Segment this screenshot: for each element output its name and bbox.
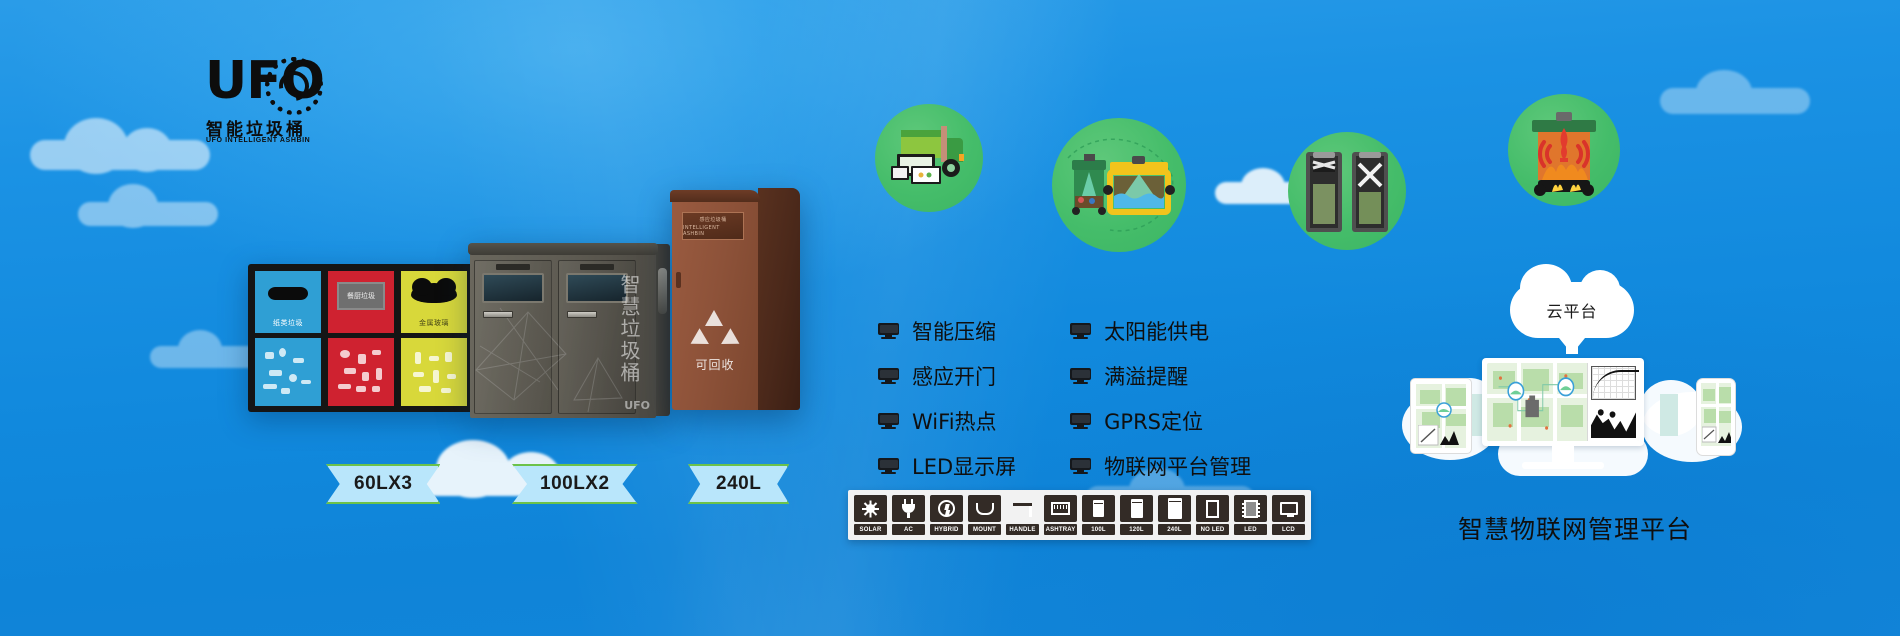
feature-label: 感应开门 — [912, 361, 996, 391]
spec-label: HANDLE — [1006, 524, 1039, 535]
cloud-platform-label: 云平台 — [1510, 282, 1634, 338]
spec-item-mount[interactable]: MOUNT — [968, 495, 1001, 535]
monitor-icon — [1070, 368, 1091, 384]
bin-cap-icon — [496, 264, 530, 270]
litter-graphic — [328, 338, 394, 406]
mount-icon — [968, 495, 1001, 522]
spec-item-120l[interactable]: 120L — [1120, 495, 1153, 535]
spec-label: LED — [1234, 524, 1267, 535]
feature-item: 满溢提醒 — [1070, 361, 1251, 391]
monitor-icon — [878, 458, 899, 474]
bin-panel-display: 餐厨垃圾 — [337, 282, 385, 310]
platform-caption: 智慧物联网管理平台 — [1380, 510, 1770, 546]
slot-cloud-icon — [411, 283, 457, 303]
litter-graphic — [255, 338, 321, 406]
bin-window-left — [482, 273, 544, 303]
feature-column-1: 智能压缩 感应开门 WiFi热点 LED显示屏 — [878, 316, 1016, 481]
feature-item: 感应开门 — [878, 361, 1016, 391]
dashboard-map — [1487, 363, 1587, 441]
capacity-label: 240L — [716, 473, 761, 495]
handle-icon — [1006, 495, 1039, 522]
spec-item-lcd[interactable]: LCD — [1272, 495, 1305, 535]
lcd-icon — [1272, 495, 1305, 522]
bin-double-body: 智慧垃圾桶 UFO — [470, 250, 656, 418]
green-bin-sensor-icon — [1072, 154, 1106, 215]
spec-item-solar[interactable]: SOLAR — [854, 495, 887, 535]
bin-brown-face: 感应垃圾桶 INTELLIGENT ASHBIN — [672, 198, 758, 410]
download-arrow-icon — [1559, 338, 1585, 354]
green-circle-fill-level-sensor — [1052, 118, 1186, 252]
bin-cell-label: 金属玻璃 — [401, 318, 467, 328]
dashboard-devices-icon — [891, 154, 941, 184]
bin-icon — [1158, 495, 1191, 522]
spec-item-led[interactable]: LED — [1234, 495, 1267, 535]
spec-label: 100L — [1082, 524, 1115, 535]
feature-label: 智能压缩 — [912, 316, 996, 346]
dashboard-charts — [1587, 363, 1639, 441]
promotional-banner: UFO 智能垃圾桶 UFO INTELLIGENT ASHBIN 纸类垃圾 — [0, 0, 1900, 636]
spec-item-240l[interactable]: 240L — [1158, 495, 1191, 535]
feature-item: 物联网平台管理 — [1070, 451, 1251, 481]
spec-label: SOLAR — [854, 524, 887, 535]
monitor-icon — [878, 368, 899, 384]
spec-item-hybrid[interactable]: HYBRID — [930, 495, 963, 535]
green-circle-smart-collection — [875, 104, 983, 212]
slot-oval-icon — [268, 287, 308, 300]
monitor-base — [1522, 462, 1604, 469]
logo-english-name: UFO INTELLIGENT ASHBIN — [206, 137, 310, 144]
feature-item: WiFi热点 — [878, 406, 1016, 436]
spec-label: 240L — [1158, 524, 1191, 535]
bin-cap-icon — [580, 264, 614, 270]
bin-double-top — [468, 243, 658, 255]
bin-brown-side — [758, 188, 800, 410]
nameplate-english: INTELLIGENT ASHBIN — [683, 225, 743, 237]
led-icon — [1234, 495, 1267, 522]
feature-label: GPRS定位 — [1104, 406, 1203, 436]
capacity-label: 60LX3 — [354, 473, 412, 495]
bin-double-100lx2: 智慧垃圾桶 UFO — [470, 250, 656, 418]
feature-item: 太阳能供电 — [1070, 316, 1251, 346]
yellow-bin-sensor-icon — [1103, 156, 1175, 212]
recycle-icon — [693, 310, 737, 350]
bin-brown-240l: 感应垃圾桶 INTELLIGENT ASHBIN 可回收 — [672, 198, 800, 410]
phone-map-screen — [1701, 383, 1731, 446]
cloud-decor-1 — [30, 118, 210, 174]
feature-label: WiFi热点 — [912, 406, 997, 436]
feature-column-2: 太阳能供电 满溢提醒 GPRS定位 物联网平台管理 — [1070, 316, 1251, 481]
nameplate-chinese: 感应垃圾桶 — [699, 216, 726, 223]
monitor-icon — [1070, 413, 1091, 429]
spec-item-no-led[interactable]: NO LED — [1196, 495, 1229, 535]
green-circle-fire-alarm — [1508, 94, 1620, 206]
feature-item: 智能压缩 — [878, 316, 1016, 346]
capacity-label: 100LX2 — [540, 473, 610, 495]
feature-label: LED显示屏 — [912, 451, 1016, 481]
no-led-icon — [1196, 495, 1229, 522]
monitor-icon — [1070, 323, 1091, 339]
spec-label: HYBRID — [930, 524, 963, 535]
feature-label: 物联网平台管理 — [1104, 451, 1251, 481]
bin-icon — [1082, 495, 1115, 522]
desktop-monitor — [1482, 358, 1644, 446]
cloud-platform-badge: 云平台 — [1510, 282, 1634, 338]
cloud-decor-6 — [1660, 70, 1810, 114]
bin-vertical-text: 智慧垃圾桶 — [619, 274, 639, 384]
bin-cell-paper: 纸类垃圾 — [255, 271, 321, 406]
spec-label: AC — [892, 524, 925, 535]
line-chart — [1591, 366, 1636, 400]
feature-label: 太阳能供电 — [1104, 316, 1209, 346]
monitor-connector-right — [1660, 394, 1678, 436]
bin-cell-label: 纸类垃圾 — [255, 318, 321, 328]
bin-handle-left[interactable] — [483, 311, 513, 318]
bin-brown-nameplate: 感应垃圾桶 INTELLIGENT ASHBIN — [682, 212, 744, 240]
spec-label: MOUNT — [968, 524, 1001, 535]
monitor-icon — [878, 413, 899, 429]
monitor-icon — [1070, 458, 1091, 474]
sun-icon — [854, 495, 887, 522]
spec-item-ac[interactable]: AC — [892, 495, 925, 535]
bin-door-left[interactable] — [474, 260, 552, 414]
bin-cell-kitchen: 餐厨垃圾 — [328, 271, 394, 406]
compaction-bin-right-icon — [1352, 152, 1388, 232]
ufo-logo: UFO 智能垃圾桶 UFO INTELLIGENT ASHBIN — [205, 55, 325, 150]
spec-item-100l[interactable]: 100L — [1082, 495, 1115, 535]
tablet-map-screen — [1416, 384, 1466, 448]
monitor-neck — [1552, 446, 1574, 462]
phone-device — [1696, 378, 1736, 456]
litter-graphic — [401, 338, 467, 406]
feature-label: 满溢提醒 — [1104, 361, 1188, 391]
bin-brown-top — [670, 190, 760, 202]
feature-list: 智能压缩 感应开门 WiFi热点 LED显示屏 太阳能供电 满溢提醒 — [878, 316, 1251, 481]
capacity-tag-60lx3: 60LX3 — [326, 464, 440, 504]
monitor-screen — [1487, 363, 1639, 441]
capacity-tag-240l: 240L — [688, 464, 789, 504]
green-circle-waste-compaction — [1288, 132, 1406, 250]
spec-label: NO LED — [1196, 524, 1229, 535]
tablet-device — [1410, 378, 1472, 454]
cloud-decor-2 — [78, 184, 218, 228]
spec-label: 120L — [1120, 524, 1153, 535]
bin-brand-mark: UFO — [624, 399, 650, 412]
bin-icon — [1120, 495, 1153, 522]
iot-platform-diagram: 云平台 — [1402, 282, 1742, 532]
bin-double-side-window — [658, 268, 667, 314]
spec-icon-strip: SOLAR AC HYBRID MOUNT HANDLE ASHTRAY 100… — [848, 490, 1311, 540]
ashtray-icon — [1044, 495, 1077, 522]
bin-handle-right[interactable] — [567, 311, 597, 318]
feature-item: LED显示屏 — [878, 451, 1016, 481]
capacity-tag-100lx2: 100LX2 — [512, 464, 638, 504]
spec-item-ashtray[interactable]: ASHTRAY — [1044, 495, 1077, 535]
bin-triple-60lx3: 纸类垃圾 餐厨垃圾 — [248, 264, 476, 412]
bin-brown-recycle-label: 可回收 — [672, 356, 758, 373]
spec-item-handle[interactable]: HANDLE — [1006, 495, 1039, 535]
monitor-icon — [878, 323, 899, 339]
plug-icon — [892, 495, 925, 522]
area-chart — [1591, 406, 1636, 438]
bin-cell-metal-glass: 金属玻璃 — [401, 271, 467, 406]
compaction-bin-left-icon — [1306, 152, 1342, 232]
bin-brown-slot — [676, 272, 681, 288]
hybrid-bolt-icon — [930, 495, 963, 522]
fire-alarm-bin-icon — [1532, 112, 1596, 196]
spec-label: LCD — [1272, 524, 1305, 535]
logo-ring-icon — [265, 57, 323, 115]
spec-label: ASHTRAY — [1044, 524, 1077, 535]
feature-item: GPRS定位 — [1070, 406, 1251, 436]
